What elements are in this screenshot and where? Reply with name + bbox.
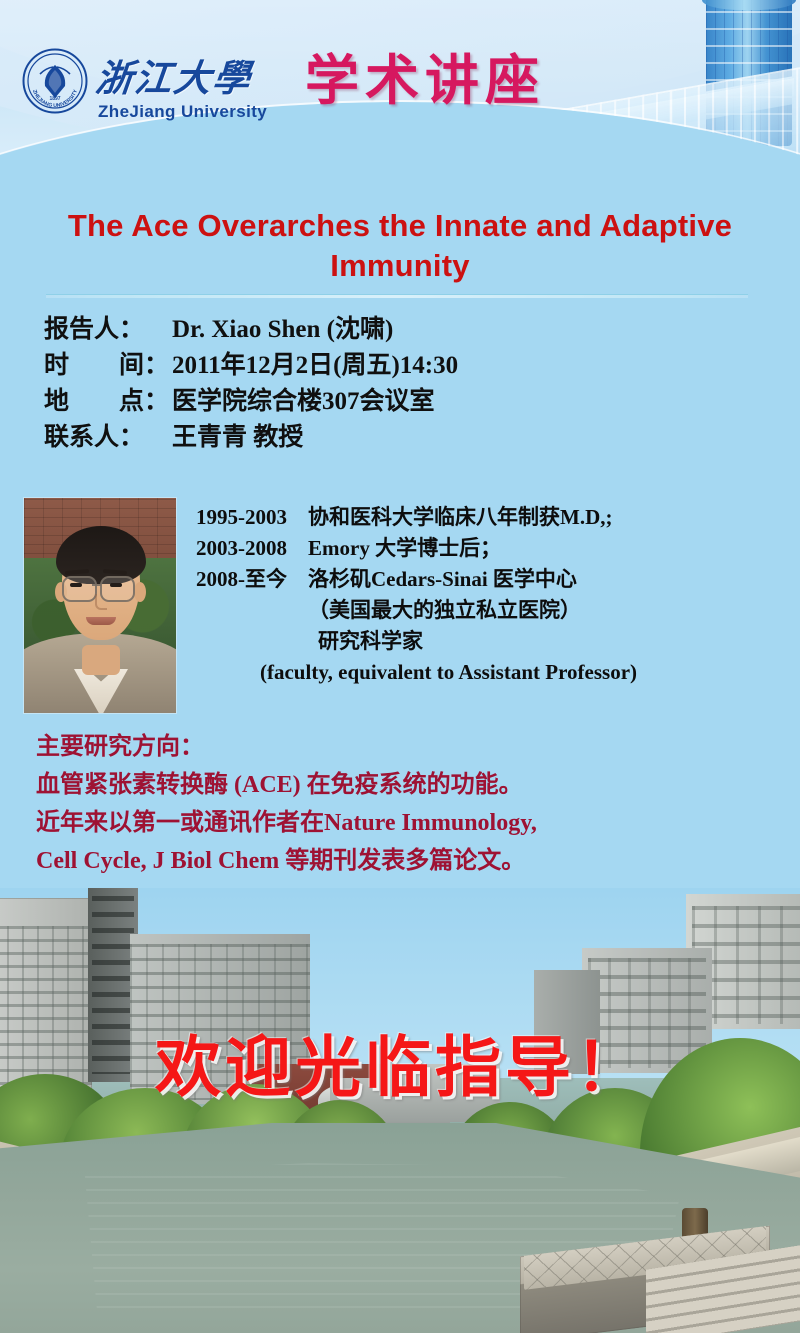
portrait-mouth — [86, 617, 116, 625]
research-interests-block: 主要研究方向： 血管紧张素转换酶 (ACE) 在免疫系统的功能。 近年来以第一或… — [36, 728, 776, 880]
talk-info-block: 报告人： Dr. Xiao Shen (沈啸) 时 间： 2011年12月2日(… — [44, 312, 744, 456]
portrait-ear-right — [134, 582, 146, 602]
info-value-time: 2011年12月2日(周五)14:30 — [172, 348, 458, 384]
university-name-english: ZheJiang University — [98, 102, 267, 122]
research-line-3: Cell Cycle, J Biol Chem 等期刊发表多篇论文。 — [36, 842, 776, 880]
svg-text:1897: 1897 — [49, 96, 60, 102]
portrait-eyeglass-left — [62, 576, 97, 602]
portrait-eye-left — [70, 583, 82, 587]
speaker-portrait-photo — [24, 498, 176, 713]
research-heading: 主要研究方向： — [36, 728, 776, 766]
speaker-bio-block: 1995-2003 协和医科大学临床八年制获M.D,; 2003-2008 Em… — [196, 502, 800, 688]
seminar-poster: ZHEJIANG UNIVERSITY 1897 浙江大學 ZheJiang U… — [0, 0, 800, 1333]
bio-year-2: 2003-2008 — [196, 533, 308, 564]
banner-title-academic-lecture: 学术讲座 — [305, 36, 545, 115]
info-value-contact: 王青青 教授 — [172, 420, 303, 456]
info-label-location: 地 点： — [44, 384, 172, 420]
poster-header: ZHEJIANG UNIVERSITY 1897 浙江大學 ZheJiang U… — [0, 0, 800, 172]
bio-year-3: 2008-至今 — [196, 564, 308, 595]
campus-river-photo — [0, 888, 800, 1333]
welcome-banner-text: 欢迎光临指导！ — [0, 1014, 800, 1110]
title-divider-rule — [46, 294, 748, 298]
info-label-speaker: 报告人： — [44, 312, 172, 348]
zhejiang-university-seal-icon: ZHEJIANG UNIVERSITY 1897 — [22, 48, 88, 114]
bio-text-2: Emory 大学博士后； — [308, 533, 501, 564]
university-name-chinese: 浙江大學 — [93, 48, 255, 102]
talk-title: The Ace Overarches the Innate and Adapti… — [45, 206, 755, 286]
portrait-eyeglass-bridge — [92, 584, 101, 586]
info-row-time: 时 间： 2011年12月2日(周五)14:30 — [44, 348, 744, 384]
info-row-location: 地 点： 医学院综合楼307会议室 — [44, 384, 744, 420]
bio-row-1: 1995-2003 协和医科大学临床八年制获M.D,; — [196, 502, 800, 533]
bio-text-1: 协和医科大学临床八年制获M.D,; — [308, 502, 612, 533]
bio-text-3: 洛杉矶Cedars-Sinai 医学中心 — [308, 564, 577, 595]
research-line-1: 血管紧张素转换酶 (ACE) 在免疫系统的功能。 — [36, 766, 776, 804]
portrait-neck — [82, 645, 120, 675]
info-row-contact: 联系人： 王青青 教授 — [44, 420, 744, 456]
info-row-speaker: 报告人： Dr. Xiao Shen (沈啸) — [44, 312, 744, 348]
info-value-location: 医学院综合楼307会议室 — [172, 384, 435, 420]
bio-extra-hospital: （美国最大的独立私立医院） — [196, 595, 800, 626]
info-label-time: 时 间： — [44, 348, 172, 384]
research-line-2: 近年来以第一或通讯作者在Nature Immunology, — [36, 804, 776, 842]
bio-row-3: 2008-至今 洛杉矶Cedars-Sinai 医学中心 — [196, 564, 800, 595]
bio-extra-position: 研究科学家 — [196, 626, 800, 657]
bio-row-2: 2003-2008 Emory 大学博士后； — [196, 533, 800, 564]
info-value-speaker: Dr. Xiao Shen (沈啸) — [172, 312, 393, 348]
portrait-eye-right — [110, 583, 122, 587]
bio-extra-faculty-note: (faculty, equivalent to Assistant Profes… — [196, 657, 800, 688]
portrait-nose — [95, 594, 107, 610]
info-label-contact: 联系人： — [44, 420, 172, 456]
bio-year-1: 1995-2003 — [196, 502, 308, 533]
